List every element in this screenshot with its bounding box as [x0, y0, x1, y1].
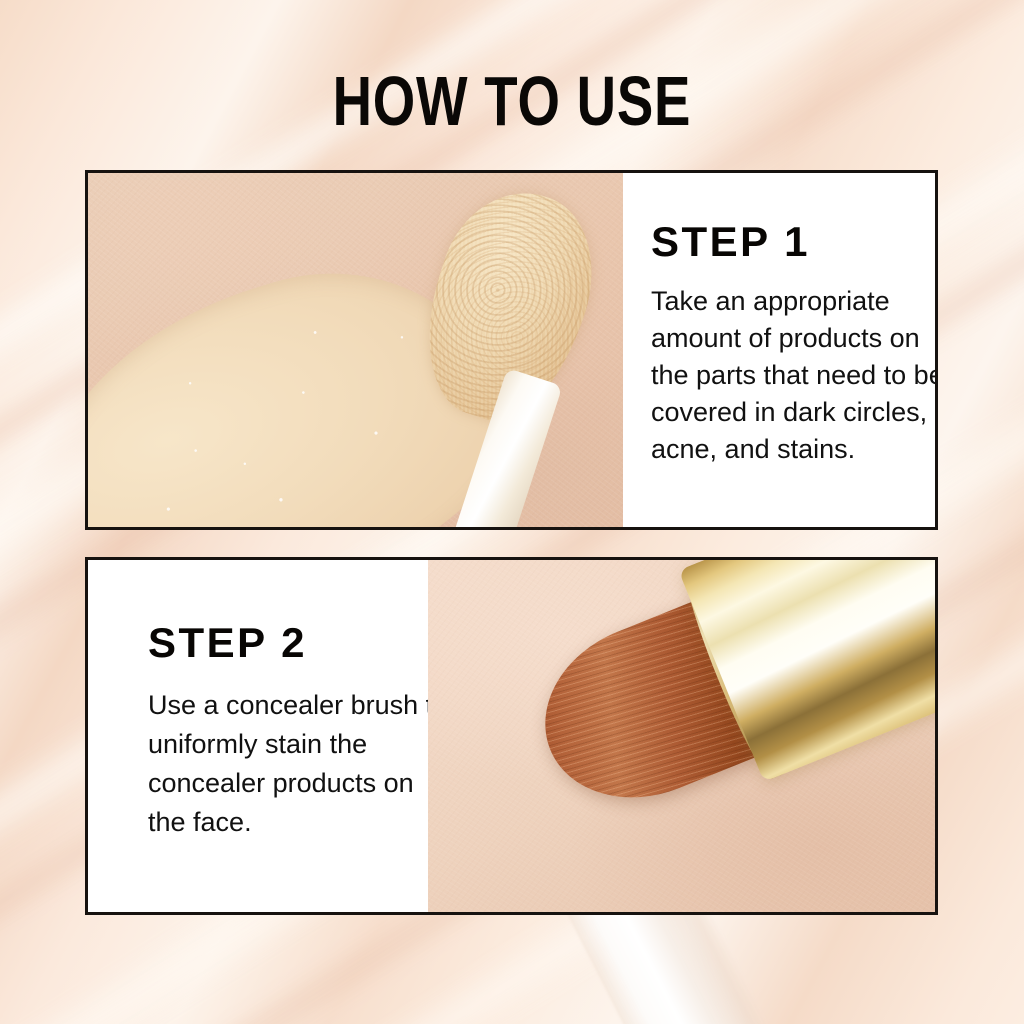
- step-card-1: STEP 1 Take an appropriate amount of pro…: [85, 170, 938, 530]
- step-1-heading: STEP 1: [651, 221, 938, 263]
- step-2-heading: STEP 2: [148, 622, 428, 664]
- step-1-body: Take an appropriate amount of products o…: [651, 283, 938, 468]
- step-2-photo: [428, 560, 935, 912]
- page-title: HOW TO USE: [0, 66, 1024, 136]
- step-1-photo: [88, 173, 623, 527]
- step-card-2: STEP 2 Use a concealer brush to uniforml…: [85, 557, 938, 915]
- step-1-text-pane: STEP 1 Take an appropriate amount of pro…: [623, 173, 938, 527]
- concealer-wand: [388, 181, 618, 527]
- step-2-text-pane: STEP 2 Use a concealer brush to uniforml…: [88, 560, 428, 912]
- page-title-text: HOW TO USE: [333, 66, 692, 136]
